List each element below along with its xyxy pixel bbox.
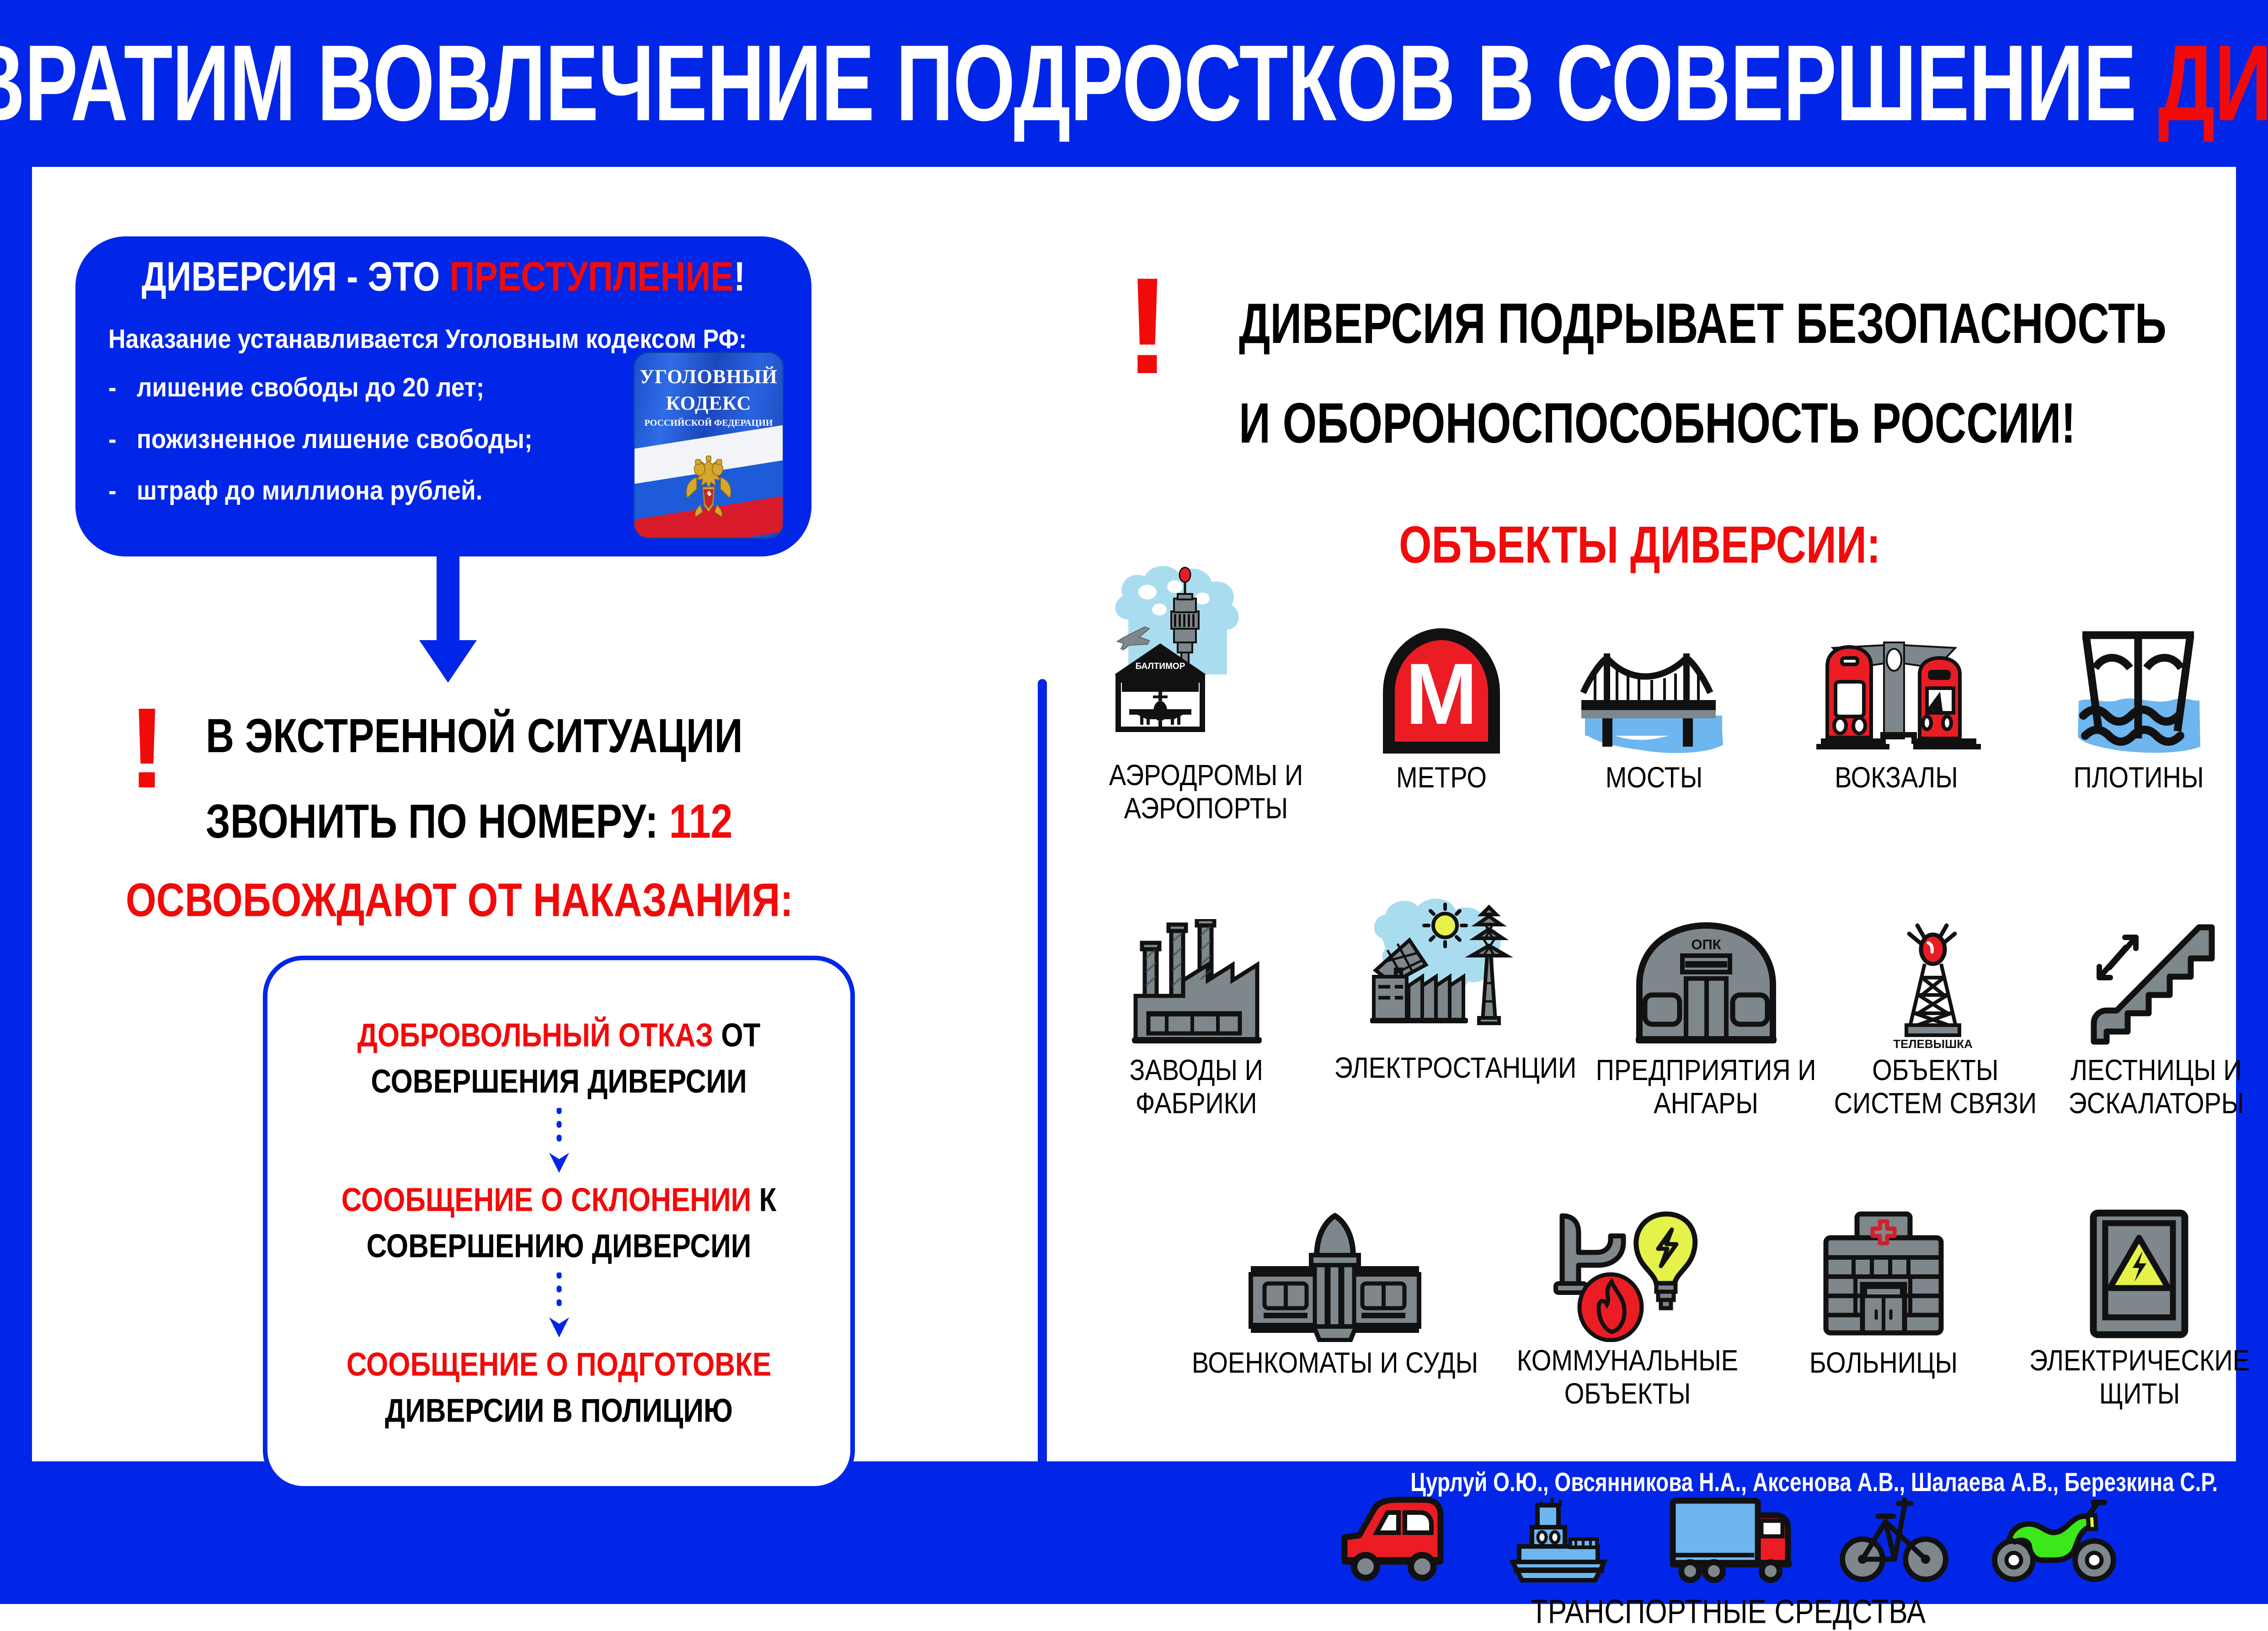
list-item: -пожизненное лишение свободы; (108, 424, 566, 455)
law-box-subtitle: Наказание устанавливается Уголовным коде… (108, 324, 747, 354)
objects-row-1: БАЛТИМОР (1069, 620, 2267, 820)
object-label-airport: АЭРОДРОМЫ И АЭРОПОРТЫ (1109, 759, 1303, 825)
book-title-line3: РОССИЙСКОЙ ФЕДЕРАЦИИ (635, 418, 783, 428)
emergency-line-1: В ЭКСТРЕННОЙ СИТУАЦИИ (206, 709, 743, 764)
dashed-arrow-down-icon (546, 1273, 572, 1340)
tv-tower-label: ТЕЛЕВЫШКА (1893, 1037, 1973, 1051)
column-divider (1038, 679, 1047, 1484)
object-item-airport: БАЛТИМОР (1069, 620, 1343, 820)
object-item-factory: ЗАВОДЫ И ФАБРИКИ (1069, 914, 1323, 1115)
object-item-utilities: КОММУНАЛЬНЫЕ ОБЪЕКТЫ (1500, 1205, 1756, 1406)
relief-step-2-line2: СОВЕРШЕНИЮ ДИВЕРСИИ (342, 1227, 777, 1265)
page-title: ПРЕДОТВРАТИМ ВОВЛЕЧЕНИЕ ПОДРОСТКОВ В СОВ… (0, 21, 2268, 145)
object-label-station: ВОКЗАЛЫ (1835, 761, 1958, 794)
power-plant-icon (1364, 896, 1547, 1047)
law-title-black: ДИВЕРСИЯ - ЭТО (142, 254, 450, 299)
list-item: -лишение свободы до 20 лет; (108, 372, 566, 403)
downward-arrow-icon (418, 553, 478, 684)
object-item-metro: M МЕТРО (1343, 620, 1540, 792)
metro-letter: M (1405, 646, 1478, 743)
dashed-arrow-down-icon (546, 1108, 572, 1176)
book-title-line1: УГОЛОВНЫЙ (635, 366, 783, 388)
object-item-bridge: МОСТЫ (1540, 620, 1768, 792)
poster-root: ПРЕДОТВРАТИМ ВОВЛЕЧЕНИЕ ПОДРОСТКОВ В СОВ… (0, 0, 2268, 1604)
relief-flow-box: ДОБРОВОЛЬНЫЙ ОТКАЗ ОТ СОВЕРШЕНИЯ ДИВЕРСИ… (263, 956, 855, 1491)
bridge-icon (1579, 624, 1729, 757)
relief-step-1: ДОБРОВОЛЬНЫЙ ОТКАЗ ОТ СОВЕРШЕНИЯ ДИВЕРСИ… (358, 1019, 761, 1098)
object-label-dam: ПЛОТИНЫ (2073, 761, 2204, 794)
relief-step-3-line2: ДИВЕРСИИ В ПОЛИЦИЮ (347, 1392, 771, 1429)
objects-row-3: ВОЕНКОМАТЫ И СУДЫ (1170, 1205, 2268, 1406)
escalator-icon (2087, 919, 2225, 1052)
criminal-code-book-icon: УГОЛОВНЫЙ КОДЕКС РОССИЙСКОЙ ФЕДЕРАЦИИ (633, 352, 784, 539)
objects-row-2: ЗАВОДЫ И ФАБРИКИ (1069, 914, 2267, 1115)
object-label-government: ВОЕНКОМАТЫ И СУДЫ (1192, 1346, 1478, 1379)
object-item-government: ВОЕНКОМАТЫ И СУДЫ (1170, 1205, 1500, 1377)
left-column: ДИВЕРСИЯ - ЭТО ПРЕСТУПЛЕНИЕ! Наказание у… (32, 167, 985, 1461)
bullet-dash: - (108, 476, 137, 506)
tv-tower-icon: ТЕЛЕВЫШКА (1873, 919, 1997, 1052)
railway-station-icon (1807, 624, 1985, 757)
credits-text: Цурлуй О.Ю., Овсянникова Н.А., Аксенова … (1410, 1466, 2218, 1497)
emergency-phone-number: 112 (669, 795, 733, 848)
relief-step-2-red: СООБЩЕНИЕ О СКЛОНЕНИИ (342, 1182, 752, 1218)
exclamation-mark-icon: ! (128, 703, 166, 792)
object-label-hangar: ПРЕДПРИЯТИЯ И АНГАРЫ (1596, 1054, 1816, 1120)
object-item-escalator: ЛЕСТНИЦЫ И ЭСКАЛАТОРЫ (2046, 914, 2267, 1115)
emergency-line-2: ЗВОНИТЬ ПО НОМЕРУ: 112 (206, 794, 743, 850)
law-title-red: ПРЕСТУПЛЕНИЕ (449, 254, 734, 299)
exclamation-mark-icon: ! (1125, 272, 1170, 379)
relief-step-1-red: ДОБРОВОЛЬНЫЙ ОТКАЗ (358, 1017, 714, 1053)
relief-step-1-line1: ДОБРОВОЛЬНЫЙ ОТКАЗ ОТ (358, 1016, 761, 1054)
relief-step-3: СООБЩЕНИЕ О ПОДГОТОВКЕ ДИВЕРСИИ В ПОЛИЦИ… (347, 1348, 771, 1427)
object-label-factory: ЗАВОДЫ И ФАБРИКИ (1130, 1054, 1263, 1120)
object-item-tv-tower: ТЕЛЕВЫШКА ОБЪЕКТЫ СИСТЕМ СВЯЗИ (1825, 914, 2046, 1115)
punishment-text: лишение свободы до 20 лет; (137, 373, 484, 402)
government-building-icon (1239, 1209, 1431, 1342)
object-label-bridge: МОСТЫ (1606, 761, 1703, 794)
law-info-box: ДИВЕРСИЯ - ЭТО ПРЕСТУПЛЕНИЕ! Наказание у… (75, 236, 811, 556)
relief-heading: ОСВОБОЖДАЮТ ОТ НАКАЗАНИЯ: (32, 873, 887, 928)
objects-heading: ОБЪЕКТЫ ДИВЕРСИИ: (1399, 515, 1881, 575)
object-item-hospital: БОЛЬНИЦЫ (1756, 1205, 2012, 1377)
relief-step-2-black: К (751, 1182, 776, 1218)
danger-line-1: ДИВЕРСИЯ ПОДРЫВАЕТ БЕЗОПАСНОСТЬ (1239, 291, 2167, 357)
law-title-tail: ! (734, 254, 745, 299)
relief-step-2-line1: СООБЩЕНИЕ О СКЛОНЕНИИ К (342, 1181, 777, 1219)
object-label-electrical-panel: ЭЛЕКТРИЧЕСКИЕ ЩИТЫ (2012, 1344, 2268, 1410)
coat-of-arms-icon (678, 454, 739, 522)
hangar-icon: ОПК (1628, 919, 1784, 1052)
poster-body: ДИВЕРСИЯ - ЭТО ПРЕСТУПЛЕНИЕ! Наказание у… (32, 167, 2236, 1461)
hangar-label: ОПК (1691, 936, 1721, 952)
object-item-station: ВОКЗАЛЫ (1768, 620, 2024, 792)
emergency-call-prefix: ЗВОНИТЬ ПО НОМЕРУ: (206, 795, 669, 848)
relief-step-3-red: СООБЩЕНИЕ О ПОДГОТОВКЕ (347, 1346, 771, 1383)
object-label-metro: МЕТРО (1396, 761, 1487, 794)
header-title-red-word: ДИВЕРСИЙ (2158, 23, 2268, 144)
bullet-dash: - (108, 424, 137, 455)
emergency-text: В ЭКСТРЕННОЙ СИТУАЦИИ ЗВОНИТЬ ПО НОМЕРУ:… (206, 709, 743, 880)
object-item-electrical-panel: ЭЛЕКТРИЧЕСКИЕ ЩИТЫ (2012, 1205, 2268, 1406)
object-label-utilities: КОММУНАЛЬНЫЕ ОБЪЕКТЫ (1517, 1344, 1738, 1410)
relief-step-1-line2: СОВЕРШЕНИЯ ДИВЕРСИИ (358, 1063, 761, 1100)
punishment-list: -лишение свободы до 20 лет; -пожизненное… (108, 374, 566, 529)
poster-footer: Цурлуй О.Ю., Овсянникова Н.А., Аксенова … (0, 1461, 2268, 1604)
list-item: -штраф до миллиона рублей. (108, 476, 566, 506)
dam-icon (2063, 624, 2214, 757)
object-item-power-plant: ЭЛЕКТРОСТАНЦИИ (1323, 914, 1587, 1082)
electrical-panel-icon (2087, 1209, 2192, 1342)
header-title-white-part-1: ПРЕДОТВРАТИМ ВОВЛЕЧЕНИЕ ПОДРОСТКОВ В СОВ… (0, 23, 2158, 144)
danger-statement-text: ДИВЕРСИЯ ПОДРЫВАЕТ БЕЗОПАСНОСТЬ И ОБОРОН… (1239, 291, 2167, 491)
factory-icon (1121, 919, 1272, 1052)
book-title-line2: КОДЕКС (635, 392, 783, 415)
airport-hangar-label: БАЛТИМОР (1136, 662, 1185, 671)
object-label-tv-tower: ОБЪЕКТЫ СИСТЕМ СВЯЗИ (1834, 1054, 2037, 1120)
relief-step-1-black: ОТ (713, 1017, 760, 1053)
object-item-dam: ПЛОТИНЫ (2024, 620, 2253, 792)
utilities-icon (1552, 1209, 1703, 1342)
right-column: ! ДИВЕРСИЯ ПОДРЫВАЕТ БЕЗОПАСНОСТЬ И ОБОР… (1061, 167, 2236, 1461)
hospital-icon (1815, 1209, 1952, 1342)
object-label-escalator: ЛЕСТНИЦЫ И ЭСКАЛАТОРЫ (2069, 1054, 2244, 1120)
relief-step-3-line1: СООБЩЕНИЕ О ПОДГОТОВКЕ (347, 1346, 771, 1383)
object-item-hangar: ОПК ПРЕДПРИЯТИЯ И АНГАРЫ (1587, 914, 1825, 1115)
punishment-text: пожизненное лишение свободы; (137, 424, 533, 454)
law-box-title: ДИВЕРСИЯ - ЭТО ПРЕСТУПЛЕНИЕ! (75, 253, 811, 300)
bullet-dash: - (108, 372, 137, 403)
object-label-hospital: БОЛЬНИЦЫ (1809, 1346, 1958, 1379)
poster-header: ПРЕДОТВРАТИМ ВОВЛЕЧЕНИЕ ПОДРОСТКОВ В СОВ… (0, 0, 2268, 167)
object-label-power-plant: ЭЛЕКТРОСТАНЦИИ (1334, 1051, 1577, 1084)
danger-line-2: И ОБОРОНОСПОСОБНОСТЬ РОССИИ! (1239, 391, 2167, 456)
punishment-text: штраф до миллиона рублей. (137, 476, 482, 506)
relief-step-2: СООБЩЕНИЕ О СКЛОНЕНИИ К СОВЕРШЕНИЮ ДИВЕР… (342, 1184, 777, 1262)
metro-icon: M (1375, 624, 1508, 757)
airport-icon: БАЛТИМОР (1105, 560, 1307, 757)
danger-statement-block: ! ДИВЕРСИЯ ПОДРЫВАЕТ БЕЗОПАСНОСТЬ И ОБОР… (1061, 272, 2236, 446)
